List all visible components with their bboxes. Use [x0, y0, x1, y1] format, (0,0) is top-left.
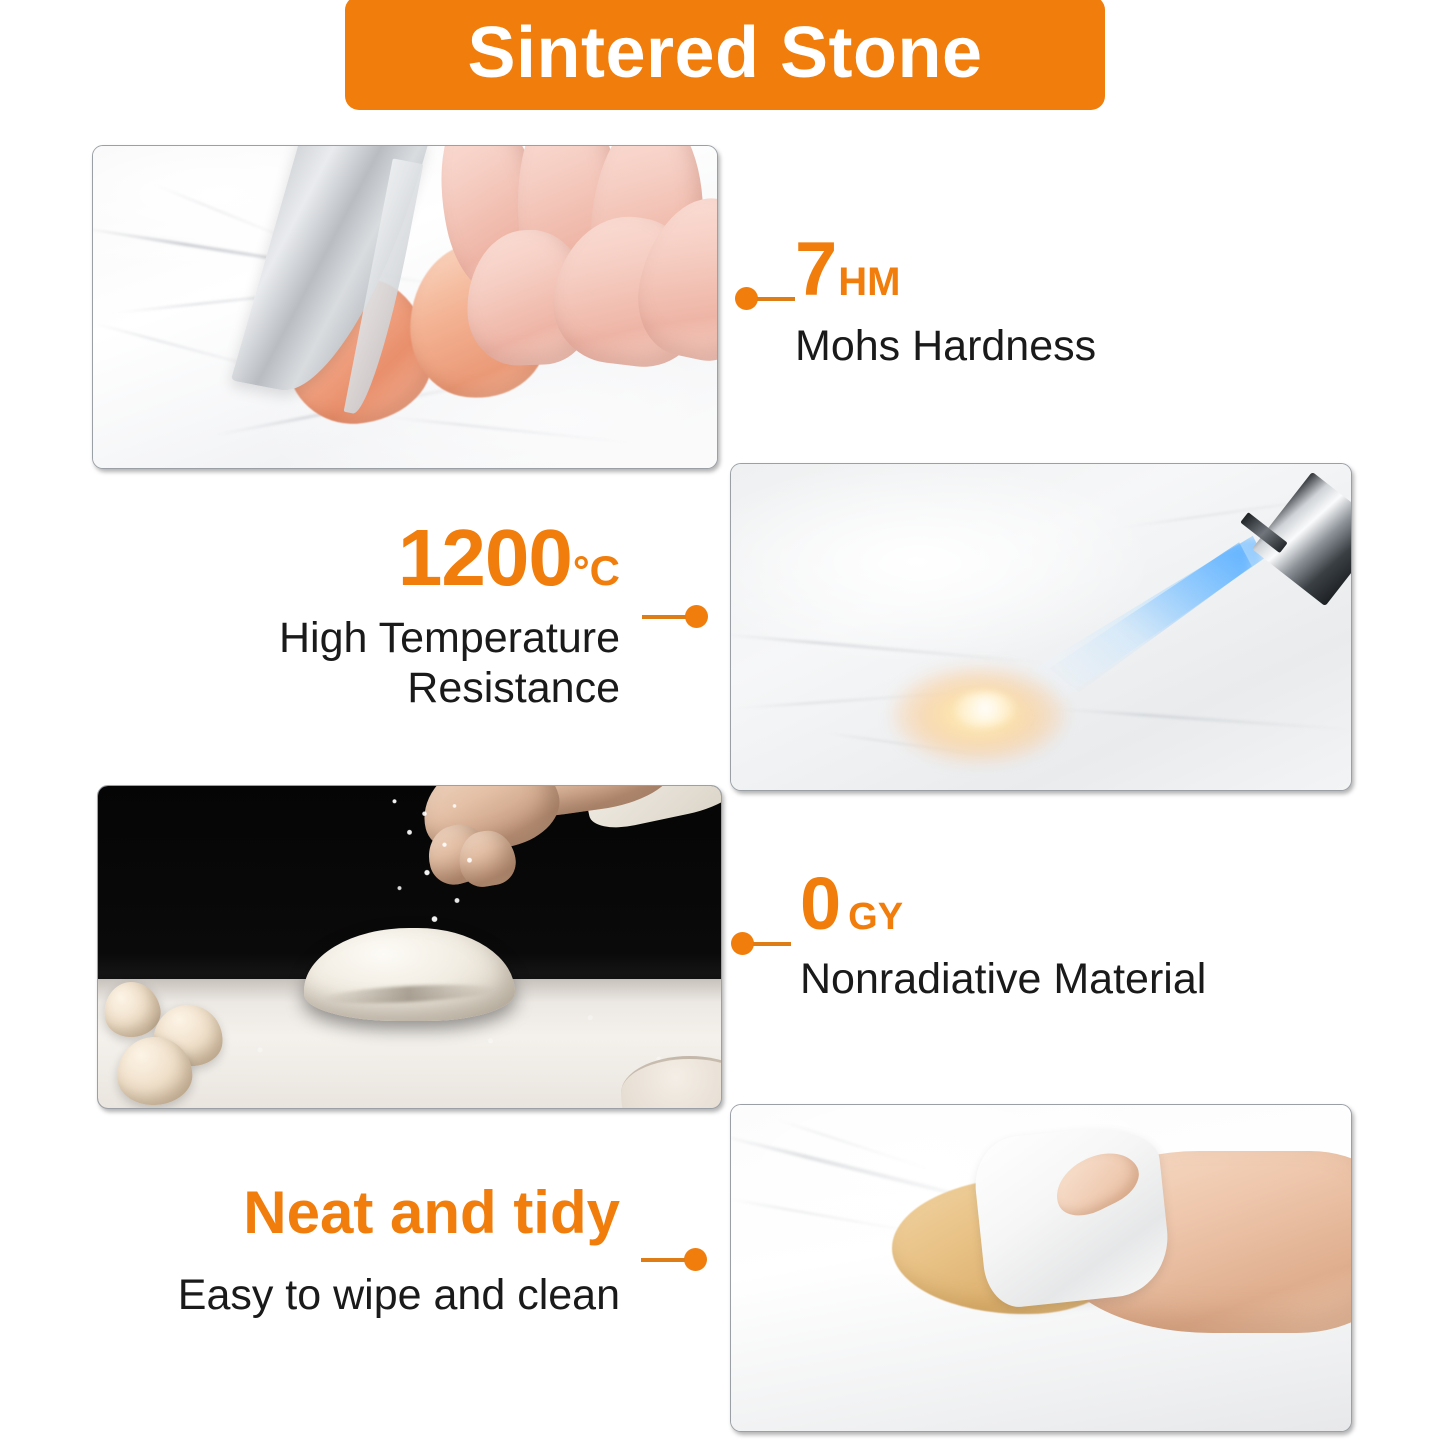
feature-callout-easy-to-clean: Neat and tidy Easy to wipe and clean	[108, 1183, 620, 1321]
stat-description: Nonradiative Material	[800, 955, 1206, 1005]
stat-value-row: 1200°C	[150, 518, 620, 598]
stat-value: 7	[795, 227, 836, 312]
header-banner: Sintered Stone	[345, 0, 1105, 110]
connector-high-temperature-resistance	[642, 605, 708, 628]
connector-line-icon	[642, 615, 686, 619]
feature-photo-nonradiative-material	[97, 785, 722, 1109]
stat-value-row: 7HM	[795, 232, 1096, 308]
connector-dot-icon	[731, 932, 754, 955]
stat-value-row: 0GY	[800, 867, 1206, 941]
connector-dot-icon	[684, 1248, 707, 1271]
stat-unit: HM	[838, 260, 900, 304]
stat-description: Easy to wipe and clean	[108, 1271, 620, 1321]
page-title: Sintered Stone	[467, 17, 982, 89]
stat-description-line: High Temperature	[150, 614, 620, 664]
stat-unit: °C	[573, 547, 620, 594]
connector-line-icon	[757, 297, 795, 301]
feature-photo-high-temperature-resistance	[730, 463, 1352, 791]
connector-line-icon	[641, 1258, 685, 1262]
blowtorch-scene	[731, 464, 1351, 790]
feature-photo-easy-to-clean	[730, 1104, 1352, 1432]
connector-easy-to-clean	[640, 1248, 707, 1271]
stat-description-line: Resistance	[150, 664, 620, 714]
feature-callout-nonradiative-material: 0GY Nonradiative Material	[800, 867, 1206, 1005]
stat-description: High Temperature Resistance	[150, 614, 620, 714]
wiping-spill-scene	[731, 1105, 1351, 1431]
falling-flour	[372, 792, 497, 947]
tissue-paper	[971, 1122, 1174, 1310]
connector-line-icon	[753, 942, 791, 946]
connector-mohs-hardness	[735, 287, 797, 310]
connector-nonradiative-material	[731, 932, 793, 955]
feature-callout-high-temperature-resistance: 1200°C High Temperature Resistance	[150, 518, 620, 714]
stat-value: 0	[800, 862, 840, 945]
connector-dot-icon	[735, 287, 758, 310]
stat-phrase: Neat and tidy	[108, 1183, 620, 1243]
flame-hotspot-core	[954, 692, 1016, 725]
feature-photo-mohs-hardness	[92, 145, 718, 469]
dough-kneading-scene	[98, 786, 721, 1108]
feature-callout-mohs-hardness: 7HM Mohs Hardness	[795, 232, 1096, 372]
connector-dot-icon	[685, 605, 708, 628]
stat-description: Mohs Hardness	[795, 322, 1096, 372]
stat-value: 1200	[398, 513, 572, 602]
stat-unit: GY	[848, 896, 903, 938]
knife-cutting-scene	[93, 146, 717, 468]
